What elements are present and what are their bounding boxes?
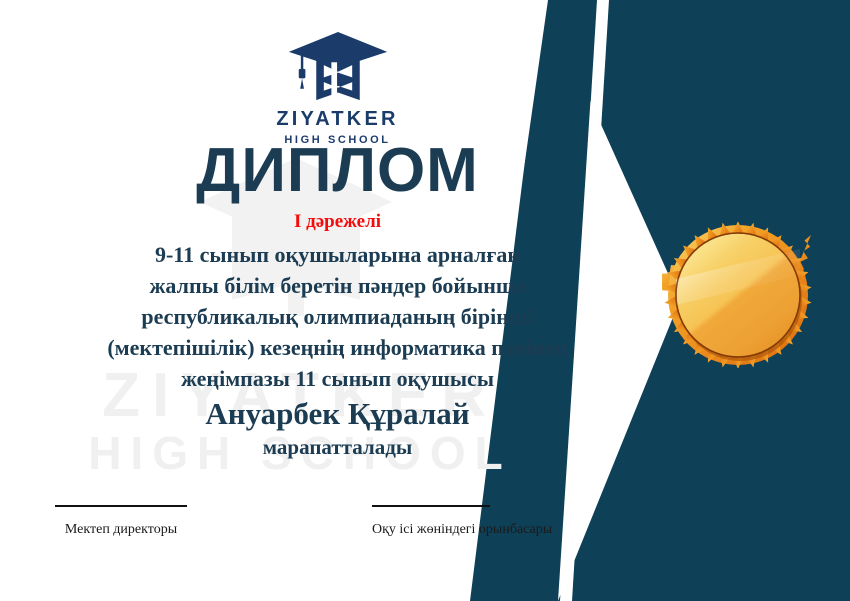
closing-line: марапатталады (0, 433, 675, 462)
degree-label: I дәрежелі (0, 212, 675, 231)
school-logo-name: ZIYATKER (0, 108, 675, 131)
recipient-name: Ануарбек Құралай (0, 394, 675, 433)
school-logo: ZIYATKER HIGH SCHOOL (0, 30, 675, 146)
signature-deputy: Оқу ісі жөніндегі орынбасары (372, 505, 490, 538)
body-line: (мектепішілік) кезеңнің информатика пәні… (0, 332, 675, 363)
certificate-body: 9-11 сынып оқушыларына арналған жалпы бі… (0, 239, 675, 462)
gold-award-seal-icon (662, 222, 814, 368)
body-line: жалпы білім беретін пәндер бойынша (0, 270, 675, 301)
page-title: ДИПЛОМ (0, 140, 675, 202)
certificate-page: ZIYATKER HIGH SCHOOL ZIYATKER HIGH SCHOO… (0, 0, 850, 601)
signature-rule (372, 505, 490, 507)
signature-label: Оқу ісі жөніндегі орынбасары (372, 522, 490, 538)
body-line: 9-11 сынып оқушыларына арналған (0, 239, 675, 270)
signature-rule (55, 505, 187, 507)
body-line: республикалық олимпиаданың бірінші (0, 301, 675, 332)
signature-label: Мектеп директоры (55, 522, 187, 538)
graduation-cap-book-icon (286, 30, 390, 104)
signature-director: Мектеп директоры (55, 505, 187, 538)
body-line: жеңімпазы 11 сынып оқушысы (0, 363, 675, 394)
